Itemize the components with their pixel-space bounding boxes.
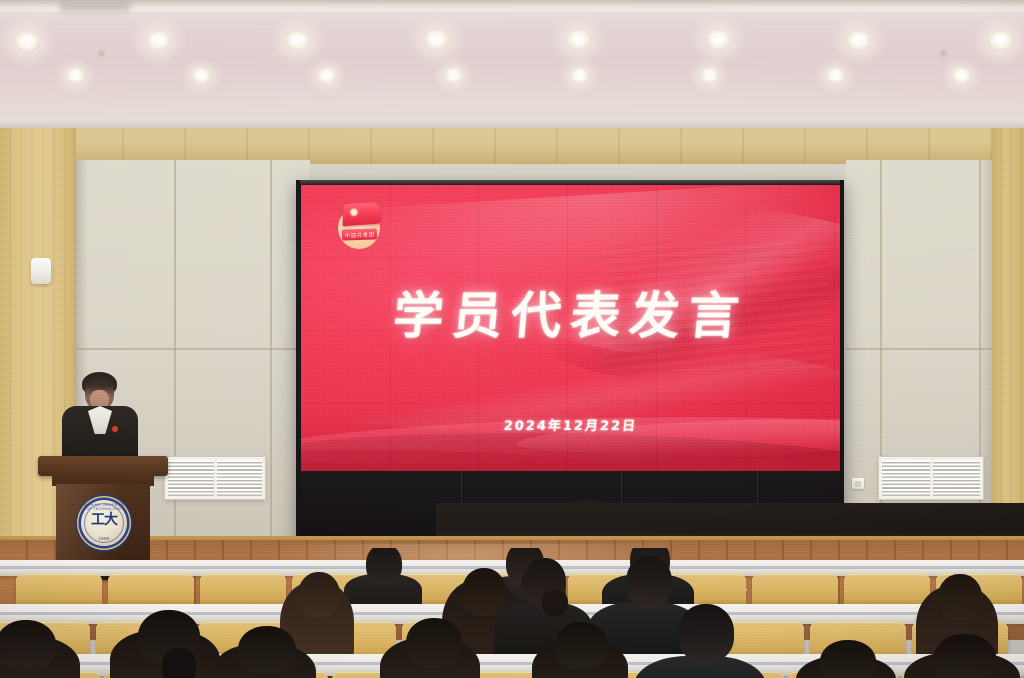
auditorium-chair[interactable] [16,574,102,608]
auditorium-chair[interactable] [752,574,838,608]
ceiling-downlight [192,68,211,84]
air-vent-grille-right [878,456,984,500]
person-head [406,618,462,668]
ceiling-downlight [706,30,731,50]
ceiling-downlight [570,68,589,84]
audience-seating [0,548,1024,678]
led-screen[interactable]: ✹ 中国共青团 学员代表发言 2024年12月22日 [301,185,840,471]
auditorium-photo: ✹ 中国共青团 学员代表发言 2024年12月22日 LIAONING U [0,0,1024,678]
person-head [554,622,608,670]
wall-sensor [31,258,51,284]
ceiling-fixture-dot [940,50,947,57]
person-head [820,640,876,678]
vent-legs-left [164,498,266,508]
person-head [238,626,296,674]
person-head [626,556,672,608]
screen-title: 学员代表发言 [301,288,840,344]
seal-mark: 工大 [90,513,118,529]
ceiling-downlight [424,30,449,50]
person-ponytail [542,590,568,616]
vent-divider [214,459,217,497]
podium-top [38,456,168,476]
person-head [678,604,734,662]
emblem-banner-text: 中国共青团 [344,230,374,239]
ceiling-downlight [952,68,971,84]
speaker-lapel-badge [112,426,118,432]
person-head [0,620,56,670]
ceiling-downlight [988,31,1013,51]
seal-year: 1996 [81,536,127,541]
ceiling [0,0,1024,132]
emblem-banner: 中国共青团 [342,228,377,240]
ceiling-top-strip [0,0,1024,12]
panel-seam [846,348,992,350]
emblem-star-icon: ✹ [348,207,360,219]
person-head [366,548,402,584]
panel-seam [76,348,310,350]
ceiling-downlight [700,68,719,84]
seal-arc-text: LIAONING UNIVERSITY OF TECHNOLOGY [81,503,127,511]
ceiling-downlight [317,68,336,84]
ceiling-fixture-dot [98,50,105,57]
person-head [934,634,996,678]
ceiling-downlight [285,31,310,51]
person-ponytail [162,648,196,678]
person-head [298,572,340,618]
air-vent-grille-left [164,456,266,500]
ceiling-downlight [66,68,85,84]
ceiling-downlight [826,68,845,84]
ceiling-downlight [14,32,40,52]
ceiling-downlight [846,31,871,51]
wall-wood-pilaster-right [992,128,1024,552]
ceiling-downlight [566,30,591,50]
screen-date: 2024年12月22日 [301,415,840,434]
panel-seam [270,160,272,552]
person-head [938,574,982,620]
ceiling-downlight [146,31,171,51]
person-head [462,568,506,616]
auditorium-chair[interactable] [108,574,194,608]
ceiling-downlight [444,68,463,84]
vent-divider [930,459,933,497]
university-seal: LIAONING UNIVERSITY OF TECHNOLOGY 工大 199… [81,500,127,546]
wall-wood-band [0,128,1024,164]
auditorium-chair[interactable] [844,574,930,608]
youth-league-emblem: ✹ 中国共青团 [334,199,386,251]
auditorium-chair[interactable] [200,574,286,608]
light-switch[interactable] [852,478,864,489]
